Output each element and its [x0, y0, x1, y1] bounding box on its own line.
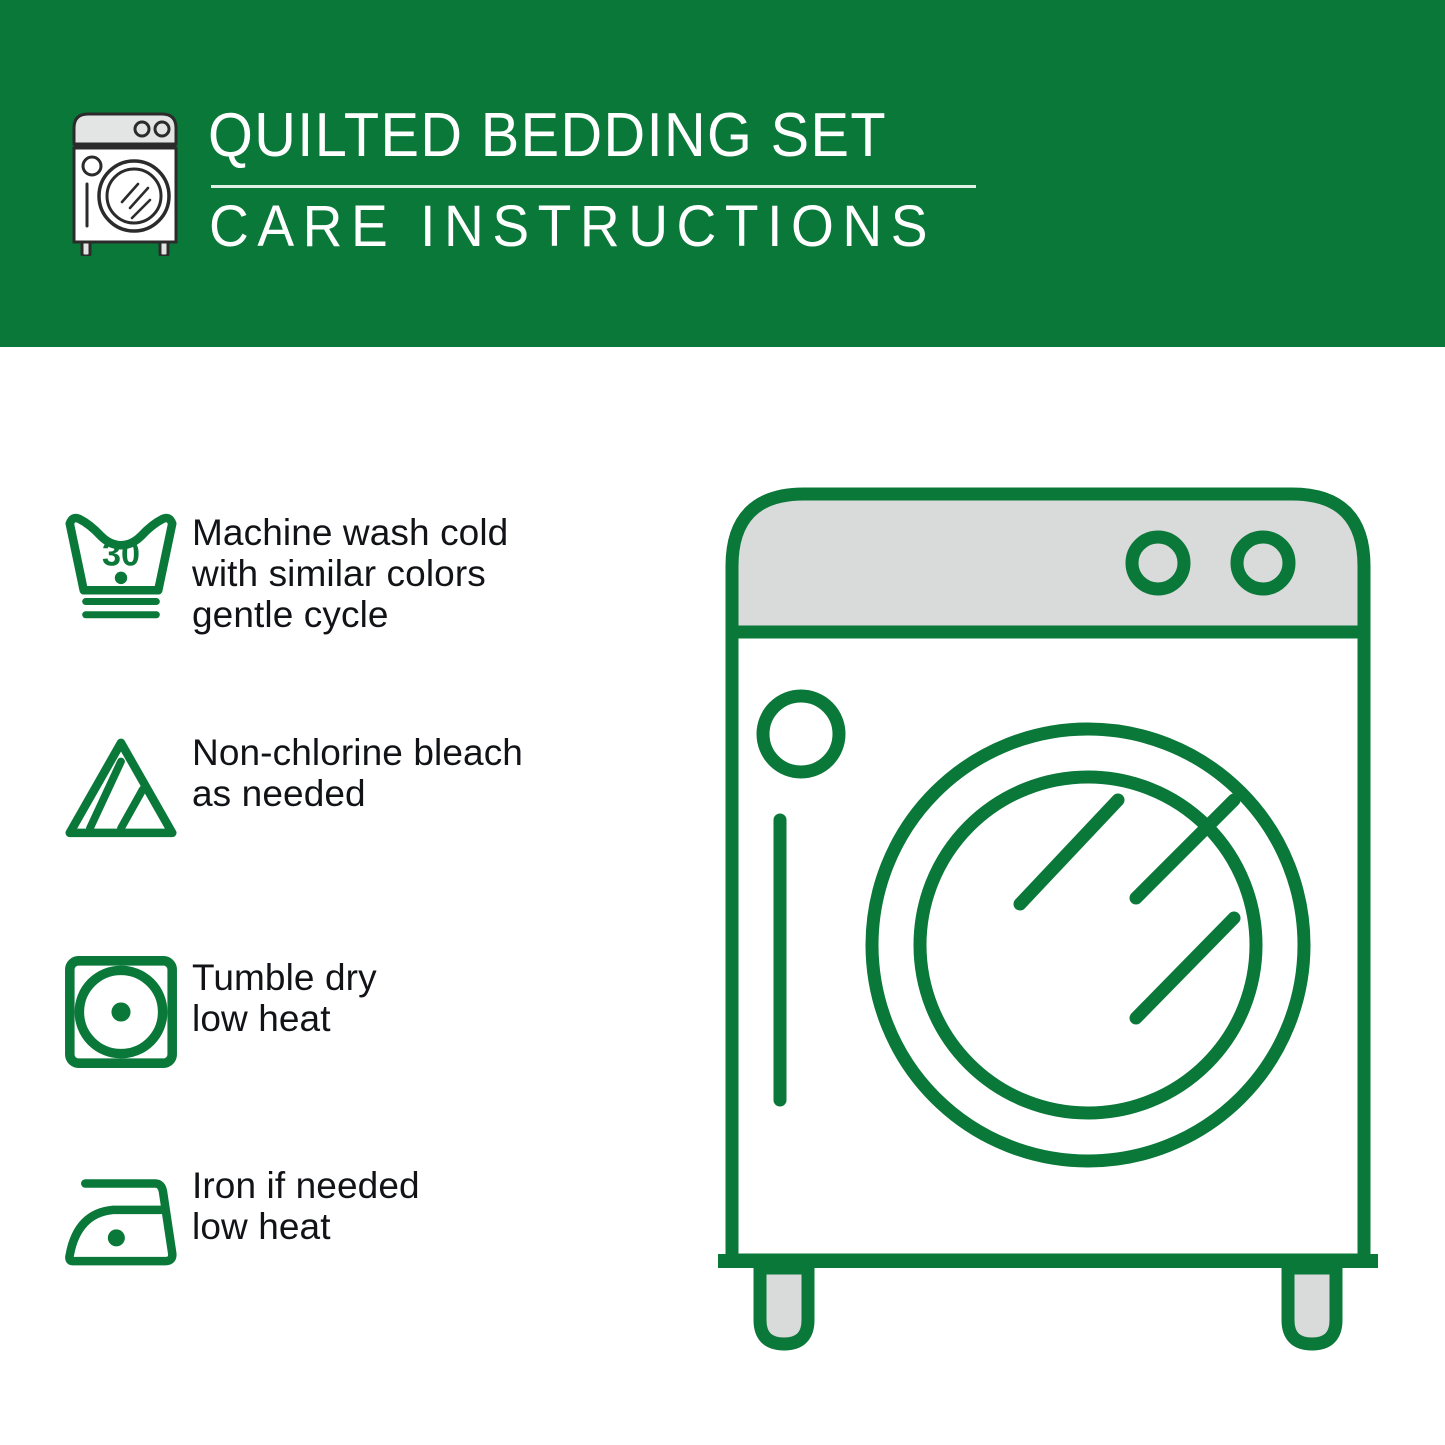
care-instruction-text: Iron if needed low heat	[180, 1145, 420, 1247]
care-instruction-row: Tumble dry low heat	[0, 937, 700, 1087]
care-text-line: gentle cycle	[192, 594, 508, 635]
title-divider	[211, 185, 976, 188]
care-text-line: Tumble dry	[192, 957, 377, 998]
care-text-line: low heat	[192, 998, 377, 1039]
care-text-line: Non-chlorine bleach	[192, 732, 523, 773]
leg-left	[760, 1268, 808, 1344]
care-instructions-infographic: QUILTED BEDDING SET CARE INSTRUCTIONS 30…	[0, 0, 1445, 1445]
base-bar	[718, 1254, 1378, 1268]
care-instruction-text: Machine wash cold with similar colors ge…	[180, 492, 508, 635]
care-text-line: Iron if needed	[192, 1165, 420, 1206]
non-chlorine-bleach-triangle-icon	[0, 712, 180, 862]
leg-right	[1288, 1268, 1336, 1344]
control-panel	[732, 494, 1364, 632]
tumble-dry-low-icon	[0, 937, 180, 1087]
washing-machine-icon	[62, 104, 188, 256]
care-text-line: low heat	[192, 1206, 420, 1247]
header-banner: QUILTED BEDDING SET CARE INSTRUCTIONS	[0, 0, 1445, 347]
care-text-line: with similar colors	[192, 553, 508, 594]
care-text-line: as needed	[192, 773, 523, 814]
care-instruction-row: 30 Machine wash cold with similar colors…	[0, 492, 700, 642]
page-subtitle: CARE INSTRUCTIONS	[209, 196, 1064, 258]
page-title: QUILTED BEDDING SET	[208, 103, 1045, 169]
washing-machine-illustration	[718, 470, 1378, 1370]
care-text-line: Machine wash cold	[192, 512, 508, 553]
care-instruction-text: Tumble dry low heat	[180, 937, 377, 1039]
iron-low-heat-icon	[0, 1145, 180, 1295]
care-instruction-row: Iron if needed low heat	[0, 1145, 700, 1295]
svg-text:30: 30	[102, 535, 140, 573]
care-instruction-list: 30 Machine wash cold with similar colors…	[0, 347, 700, 1445]
care-instruction-row: Non-chlorine bleach as needed	[0, 712, 700, 862]
care-instruction-text: Non-chlorine bleach as needed	[180, 712, 523, 814]
wash-tub-30-gentle-icon: 30	[0, 492, 180, 642]
